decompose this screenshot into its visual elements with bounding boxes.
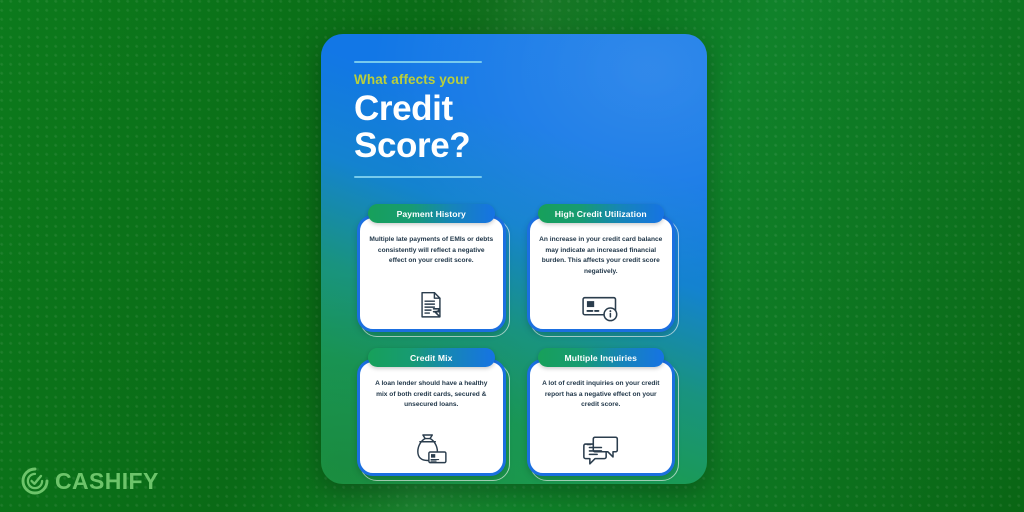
- factor-card-payment-history[interactable]: Multiple late payments of EMIs or debts …: [357, 204, 506, 332]
- document-rupee-icon: [414, 288, 448, 322]
- money-bag-card-icon: [413, 432, 449, 466]
- header-block: What affects your Credit Score?: [354, 61, 512, 178]
- card-title: Payment History: [397, 209, 466, 219]
- card-title: High Credit Utilization: [555, 209, 647, 219]
- card-description: Multiple late payments of EMIs or debts …: [369, 235, 494, 267]
- card-title: Multiple Inquiries: [565, 353, 637, 363]
- factor-card-credit-mix[interactable]: A loan lender should have a healthy mix …: [357, 348, 506, 476]
- factor-card-multiple-inquiries[interactable]: A lot of credit inquiries on your credit…: [527, 348, 676, 476]
- header-rule-bottom: [354, 176, 482, 178]
- header-kicker: What affects your: [354, 72, 512, 88]
- factor-card-high-credit-utilization[interactable]: An increase in your credit card balance …: [527, 204, 676, 332]
- cashify-check-circle-icon: [20, 466, 50, 496]
- cashify-wordmark: CASHIFY: [55, 470, 159, 493]
- page-title-line-1: Credit: [354, 90, 512, 127]
- card-body: An increase in your credit card balance …: [527, 215, 676, 332]
- card-title: Credit Mix: [410, 353, 453, 363]
- chat-bubbles-icon: [583, 435, 619, 466]
- card-body: A lot of credit inquiries on your credit…: [527, 359, 676, 476]
- page-title-line-2: Score?: [354, 127, 512, 164]
- header-rule-top: [354, 61, 482, 63]
- infographic-panel: What affects your Credit Score?: [321, 34, 707, 484]
- credit-card-info-icon: [582, 293, 620, 322]
- factor-cards-grid: Multiple late payments of EMIs or debts …: [357, 204, 675, 476]
- card-description: A loan lender should have a healthy mix …: [369, 379, 494, 411]
- card-description: An increase in your credit card balance …: [539, 235, 664, 278]
- card-badge: Payment History: [368, 204, 495, 223]
- cashify-logo: CASHIFY: [20, 466, 159, 496]
- card-description: A lot of credit inquiries on your credit…: [539, 379, 664, 411]
- card-body: A loan lender should have a healthy mix …: [357, 359, 506, 476]
- card-badge: High Credit Utilization: [538, 204, 665, 223]
- card-body: Multiple late payments of EMIs or debts …: [357, 215, 506, 332]
- card-badge: Credit Mix: [368, 348, 495, 367]
- card-badge: Multiple Inquiries: [538, 348, 665, 367]
